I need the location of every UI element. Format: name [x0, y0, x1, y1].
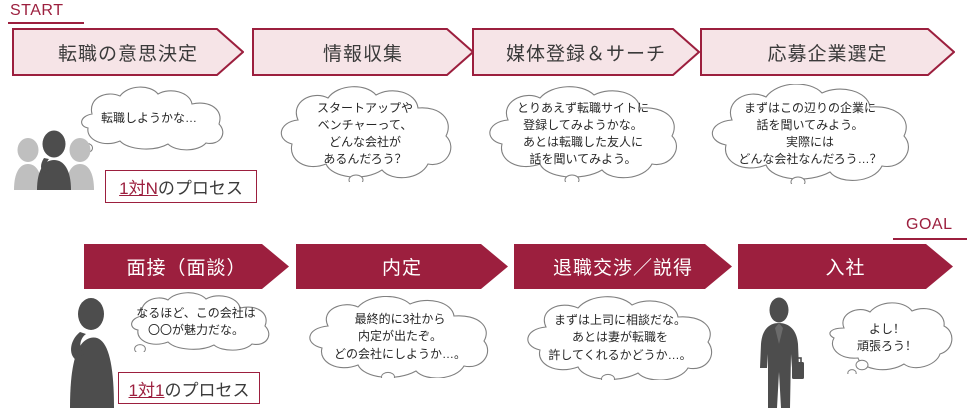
group-of-people-silhouette [4, 128, 108, 190]
step-label: 面接（面談） [126, 253, 246, 280]
callout-rest: のプロセス [158, 174, 243, 199]
goal-underline [893, 238, 967, 240]
thought-bubble-2: スタートアップや ベンチャーって、 どんな会社が あるんだろう？ [268, 86, 462, 182]
step-chevron-7[interactable]: 退職交渉／説得 [514, 244, 732, 289]
bubble-text: よし！ 頑張ろう！ [818, 302, 956, 380]
step-label: 情報収集 [323, 39, 403, 66]
thought-bubble-3: とりあえず転職サイトに 登録してみようかな。 あとは転職した友人に 話を聞いてみ… [476, 86, 690, 182]
step-chevron-4[interactable]: 応募企業選定 [700, 28, 955, 76]
step-label: 退職交渉／説得 [553, 253, 693, 280]
thought-bubble-4: まずはこの辺りの企業に 話を聞いてみよう。 実際には どんな会社なんだろう…？ [698, 84, 922, 184]
thought-bubble-7: まずは上司に相談だな。 あとは妻が転職を 許してくれるかどうか…。 [512, 296, 728, 380]
bubble-text: まずは上司に相談だな。 あとは妻が転職を 許してくれるかどうか…。 [512, 296, 728, 380]
step-label: 媒体登録＆サーチ [506, 39, 666, 66]
step-chevron-5[interactable]: 面接（面談） [84, 244, 289, 289]
callout-emphasis: 1対1 [129, 376, 165, 401]
start-label: START [10, 2, 63, 20]
step-chevron-6[interactable]: 内定 [296, 244, 508, 289]
callout-rest: のプロセス [164, 376, 249, 401]
bubble-text: まずはこの辺りの企業に 話を聞いてみよう。 実際には どんな会社なんだろう…？ [698, 84, 922, 184]
step-label: 転職の意思決定 [58, 39, 198, 66]
step-label: 入社 [825, 253, 865, 280]
thinking-person-silhouette [62, 296, 118, 408]
callout-one-to-n: 1対Nのプロセス [105, 170, 257, 203]
businessman-with-briefcase-silhouette [748, 296, 812, 408]
callout-emphasis: 1対N [119, 174, 158, 199]
thought-bubble-6: 最終的に3社から 内定が出たぞ。 どの会社にしようか…。 [296, 296, 504, 378]
bubble-text: スタートアップや ベンチャーって、 どんな会社が あるんだろう？ [268, 86, 462, 182]
start-underline [8, 22, 84, 24]
thought-bubble-8: よし！ 頑張ろう！ [818, 302, 956, 374]
step-chevron-8[interactable]: 入社 [738, 244, 953, 289]
step-chevron-3[interactable]: 媒体登録＆サーチ [472, 28, 700, 76]
step-chevron-1[interactable]: 転職の意思決定 [12, 28, 244, 76]
goal-label: GOAL [906, 216, 952, 234]
bubble-text: 最終的に3社から 内定が出たぞ。 どの会社にしようか…。 [296, 296, 504, 378]
bubble-text: とりあえず転職サイトに 登録してみようかな。 あとは転職した友人に 話を聞いてみ… [476, 86, 690, 182]
diagram-canvas: START 転職の意思決定 情報収集 媒体登録＆サーチ 応募企業選定 [0, 0, 967, 411]
callout-one-to-one: 1対1のプロセス [118, 372, 260, 404]
bubble-text: なるほど、この会社は 〇〇が魅力だな。 [110, 292, 282, 356]
step-chevron-2[interactable]: 情報収集 [252, 28, 474, 76]
thought-bubble-5: なるほど、この会社は 〇〇が魅力だな。 [110, 292, 282, 352]
step-label: 応募企業選定 [767, 39, 887, 66]
step-label: 内定 [382, 253, 422, 280]
